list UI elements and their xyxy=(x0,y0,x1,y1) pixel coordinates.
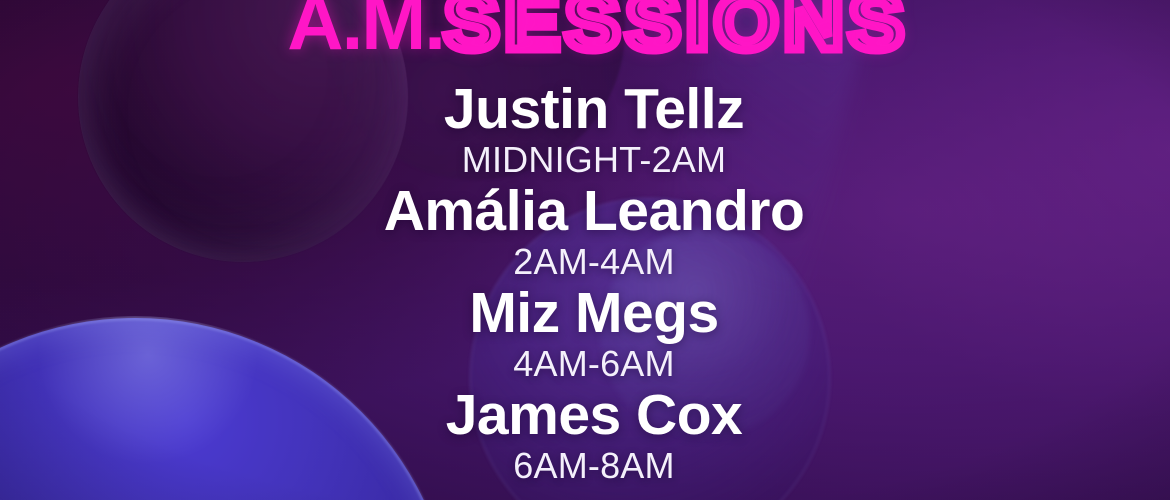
artist-name: Justin Tellz xyxy=(18,80,1170,138)
artist-timeslot: 2AM-4AM xyxy=(18,240,1170,284)
artist-timeslot: 6AM-8AM xyxy=(18,444,1170,488)
poster-content: A.M. SESSIONS Justin Tellz MIDNIGHT-2AM … xyxy=(0,0,1170,500)
list-item: Miz Megs 4AM-6AM xyxy=(18,284,1170,386)
list-item: Amália Leandro 2AM-4AM xyxy=(18,182,1170,284)
list-item: Justin Tellz MIDNIGHT-2AM xyxy=(18,80,1170,182)
artist-name: Miz Megs xyxy=(18,284,1170,342)
poster-title: A.M. SESSIONS xyxy=(0,0,1170,61)
list-item: James Cox 6AM-8AM xyxy=(18,386,1170,488)
title-am-text: A.M. xyxy=(287,0,444,61)
artist-name: James Cox xyxy=(18,386,1170,444)
lineup-list: Justin Tellz MIDNIGHT-2AM Amália Leandro… xyxy=(0,80,1170,488)
artist-timeslot: 4AM-6AM xyxy=(18,342,1170,386)
title-sessions-text: SESSIONS xyxy=(444,0,909,61)
artist-timeslot: MIDNIGHT-2AM xyxy=(18,138,1170,182)
artist-name: Amália Leandro xyxy=(18,182,1170,240)
am-sessions-poster: A.M. SESSIONS Justin Tellz MIDNIGHT-2AM … xyxy=(0,0,1170,500)
